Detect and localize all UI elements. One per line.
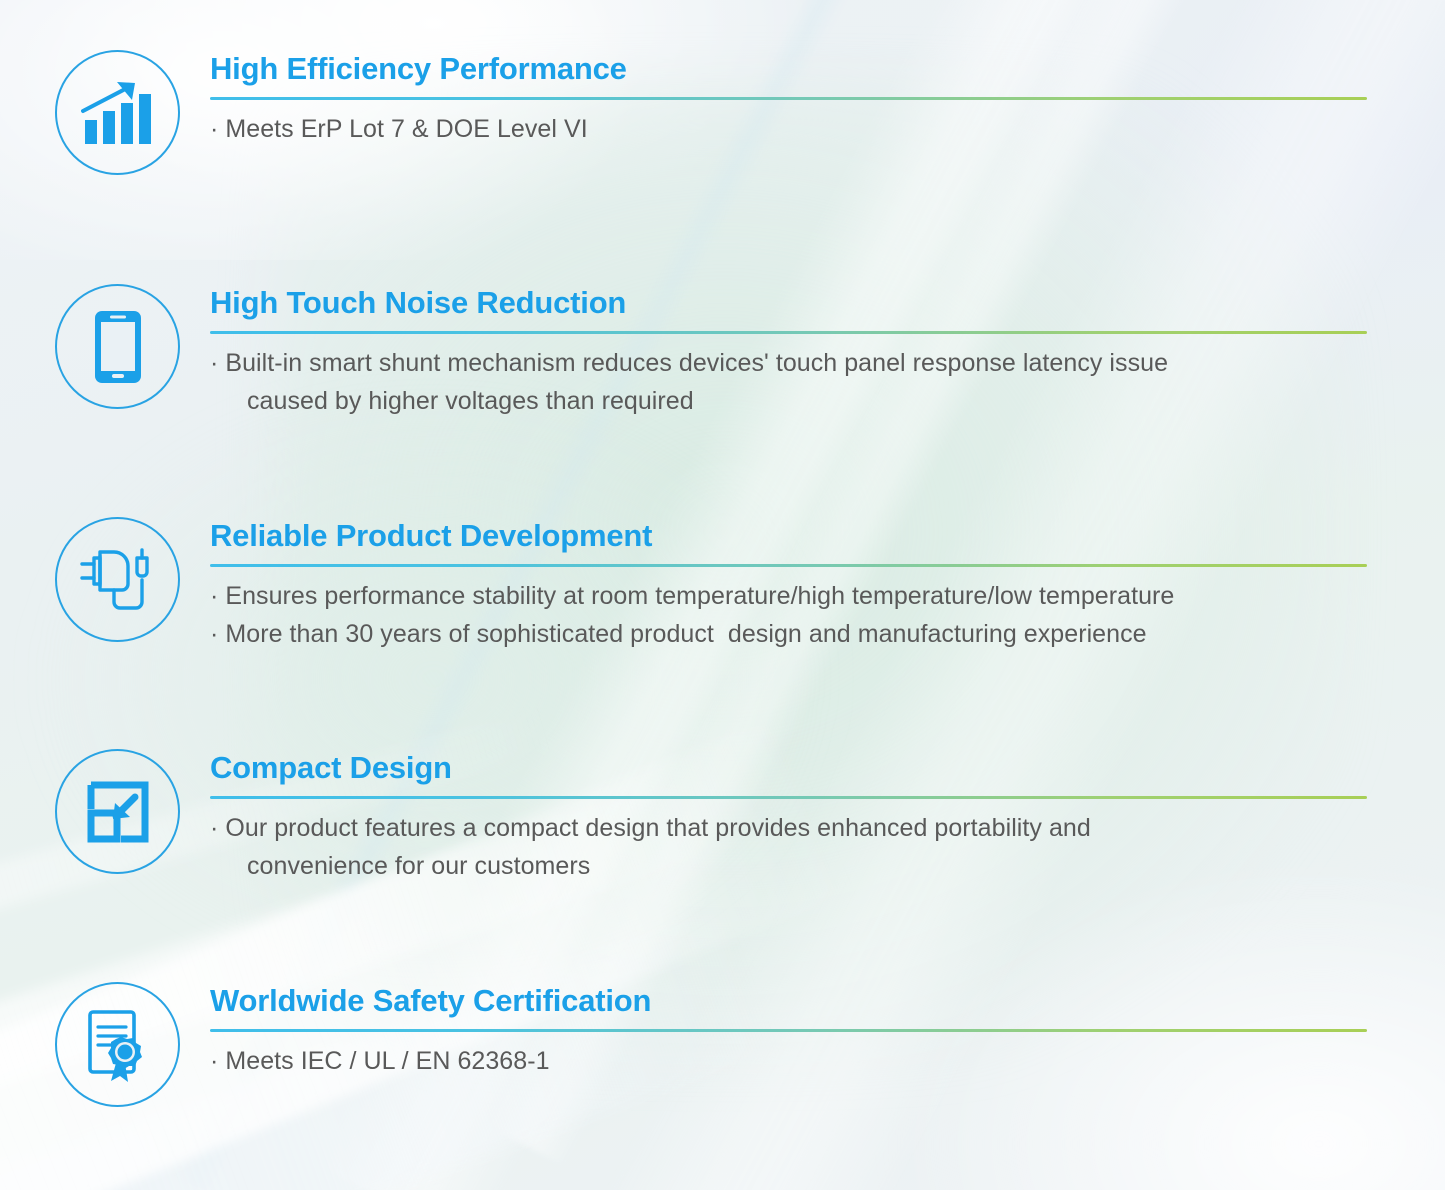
feature-title: Reliable Product Development [210, 519, 1368, 553]
feature-bullets: · Meets IEC / UL / EN 62368-1 [210, 1043, 1368, 1081]
power-adapter-icon [55, 517, 180, 642]
feature-body: Reliable Product Development · Ensures p… [210, 519, 1368, 653]
feature-title: Compact Design [210, 751, 1368, 785]
feature-bullets: · Meets ErP Lot 7 & DOE Level VI [210, 111, 1368, 149]
feature-bullets: · Built-in smart shunt mechanism reduces… [210, 345, 1368, 420]
feature-body: High Touch Noise Reduction · Built-in sm… [210, 286, 1368, 420]
feature-bullets: · Ensures performance stability at room … [210, 578, 1368, 653]
feature-bullet: · Ensures performance stability at room … [210, 578, 1368, 616]
feature-bullet: · Meets IEC / UL / EN 62368-1 [210, 1043, 1368, 1081]
feature-title: Worldwide Safety Certification [210, 984, 1368, 1018]
feature-body: Compact Design · Our product features a … [210, 751, 1368, 885]
feature-divider [210, 331, 1367, 334]
feature-divider [210, 564, 1367, 567]
feature-divider [210, 1029, 1367, 1032]
feature-divider [210, 97, 1367, 100]
compact-resize-icon [55, 749, 180, 874]
bar-chart-growth-icon [55, 50, 180, 175]
feature-bullets: · Our product features a compact design … [210, 810, 1368, 885]
feature-body: Worldwide Safety Certification · Meets I… [210, 984, 1368, 1081]
feature-divider [210, 796, 1367, 799]
smartphone-icon [55, 284, 180, 409]
feature-title: High Touch Noise Reduction [210, 286, 1368, 320]
feature-bullet: · Built-in smart shunt mechanism reduces… [210, 345, 1368, 420]
feature-bullet: · More than 30 years of sophisticated pr… [210, 616, 1368, 654]
feature-bullet: · Our product features a compact design … [210, 810, 1368, 885]
feature-title: High Efficiency Performance [210, 52, 1368, 86]
certificate-award-icon [55, 982, 180, 1107]
feature-body: High Efficiency Performance · Meets ErP … [210, 52, 1368, 149]
feature-bullet: · Meets ErP Lot 7 & DOE Level VI [210, 111, 1368, 149]
